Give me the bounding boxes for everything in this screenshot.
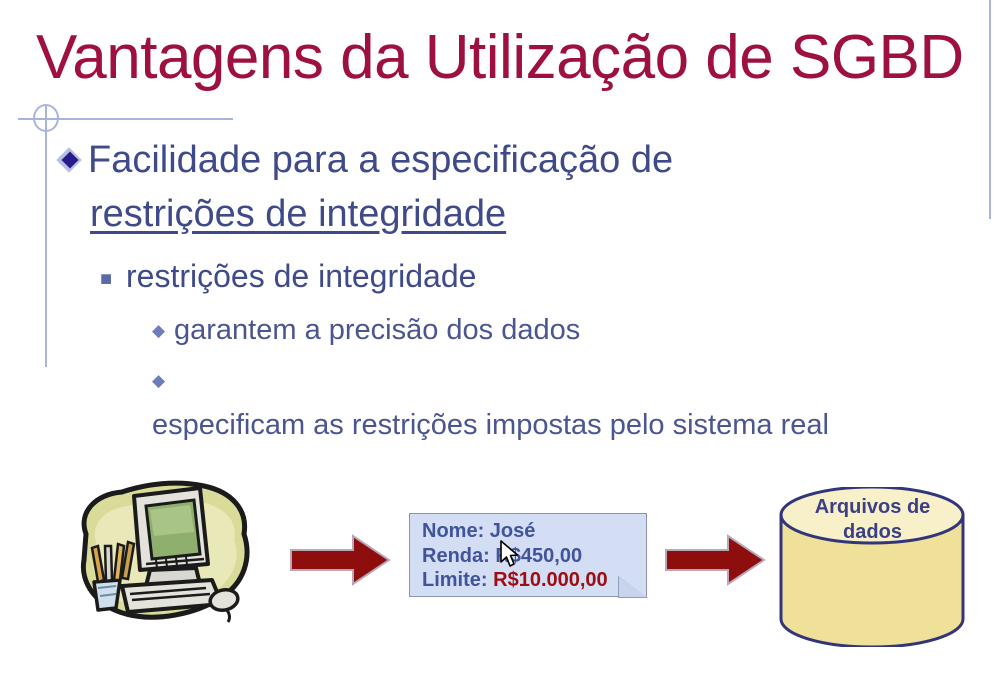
- slide-canvas: Vantagens da Utilização de SGBD Facilida…: [0, 0, 1003, 692]
- note-row-nome-value: José: [490, 520, 536, 542]
- note-row-limite-value: R$10.000,00: [493, 569, 608, 591]
- decorative-vertical-line-right: [989, 0, 991, 219]
- note-row-renda-label: Renda:: [422, 545, 490, 567]
- note-row-limite: Limite: R$10.000,00: [422, 568, 608, 593]
- bullet-level2: ■restrições de integridade: [100, 253, 476, 302]
- mouse-pointer-cursor-icon: [499, 540, 521, 570]
- bullet-level3-label-1: garantem a precisão dos dados: [174, 314, 580, 346]
- page-title: Vantagens da Utilização de SGBD: [36, 22, 986, 94]
- note-row-nome-label: Nome:: [422, 520, 484, 542]
- small-diamond-bullet-icon: ◆: [152, 359, 174, 403]
- bullet-level3-item-1: ◆garantem a precisão dos dados: [152, 308, 580, 353]
- bullet-level1-line2: restrições de integridade: [90, 187, 958, 241]
- bullet-level1-line1: Facilidade para a especificação de: [88, 139, 673, 181]
- bullet-level1: Facilidade para a especificação de restr…: [58, 133, 958, 241]
- diamond-bullet-icon: [58, 149, 84, 175]
- database-label-line1: Arquivos de: [775, 495, 970, 520]
- square-bullet-icon: ■: [100, 256, 126, 302]
- database-label-line2: dados: [775, 520, 970, 545]
- right-arrow-1-icon: [289, 534, 391, 586]
- note-card-fold: [619, 577, 647, 597]
- record-note-card: Nome: José Renda: R$450,00 Limite: R$10.…: [409, 513, 647, 597]
- decorative-vertical-line-left: [45, 105, 47, 367]
- database-label: Arquivos de dados: [775, 495, 970, 545]
- small-diamond-bullet-icon: ◆: [152, 309, 174, 353]
- desktop-computer-clipart-icon: [72, 472, 272, 642]
- bullet-level3-label-2: especificam as restrições impostas pelo …: [152, 403, 962, 447]
- right-arrow-2-icon: [664, 534, 766, 586]
- bullet-level3-item-2: ◆especificam as restrições impostas pelo…: [152, 358, 982, 447]
- note-row-limite-label: Limite:: [422, 569, 488, 591]
- decorative-circle: [33, 104, 59, 132]
- bullet-level2-label: restrições de integridade: [126, 258, 476, 294]
